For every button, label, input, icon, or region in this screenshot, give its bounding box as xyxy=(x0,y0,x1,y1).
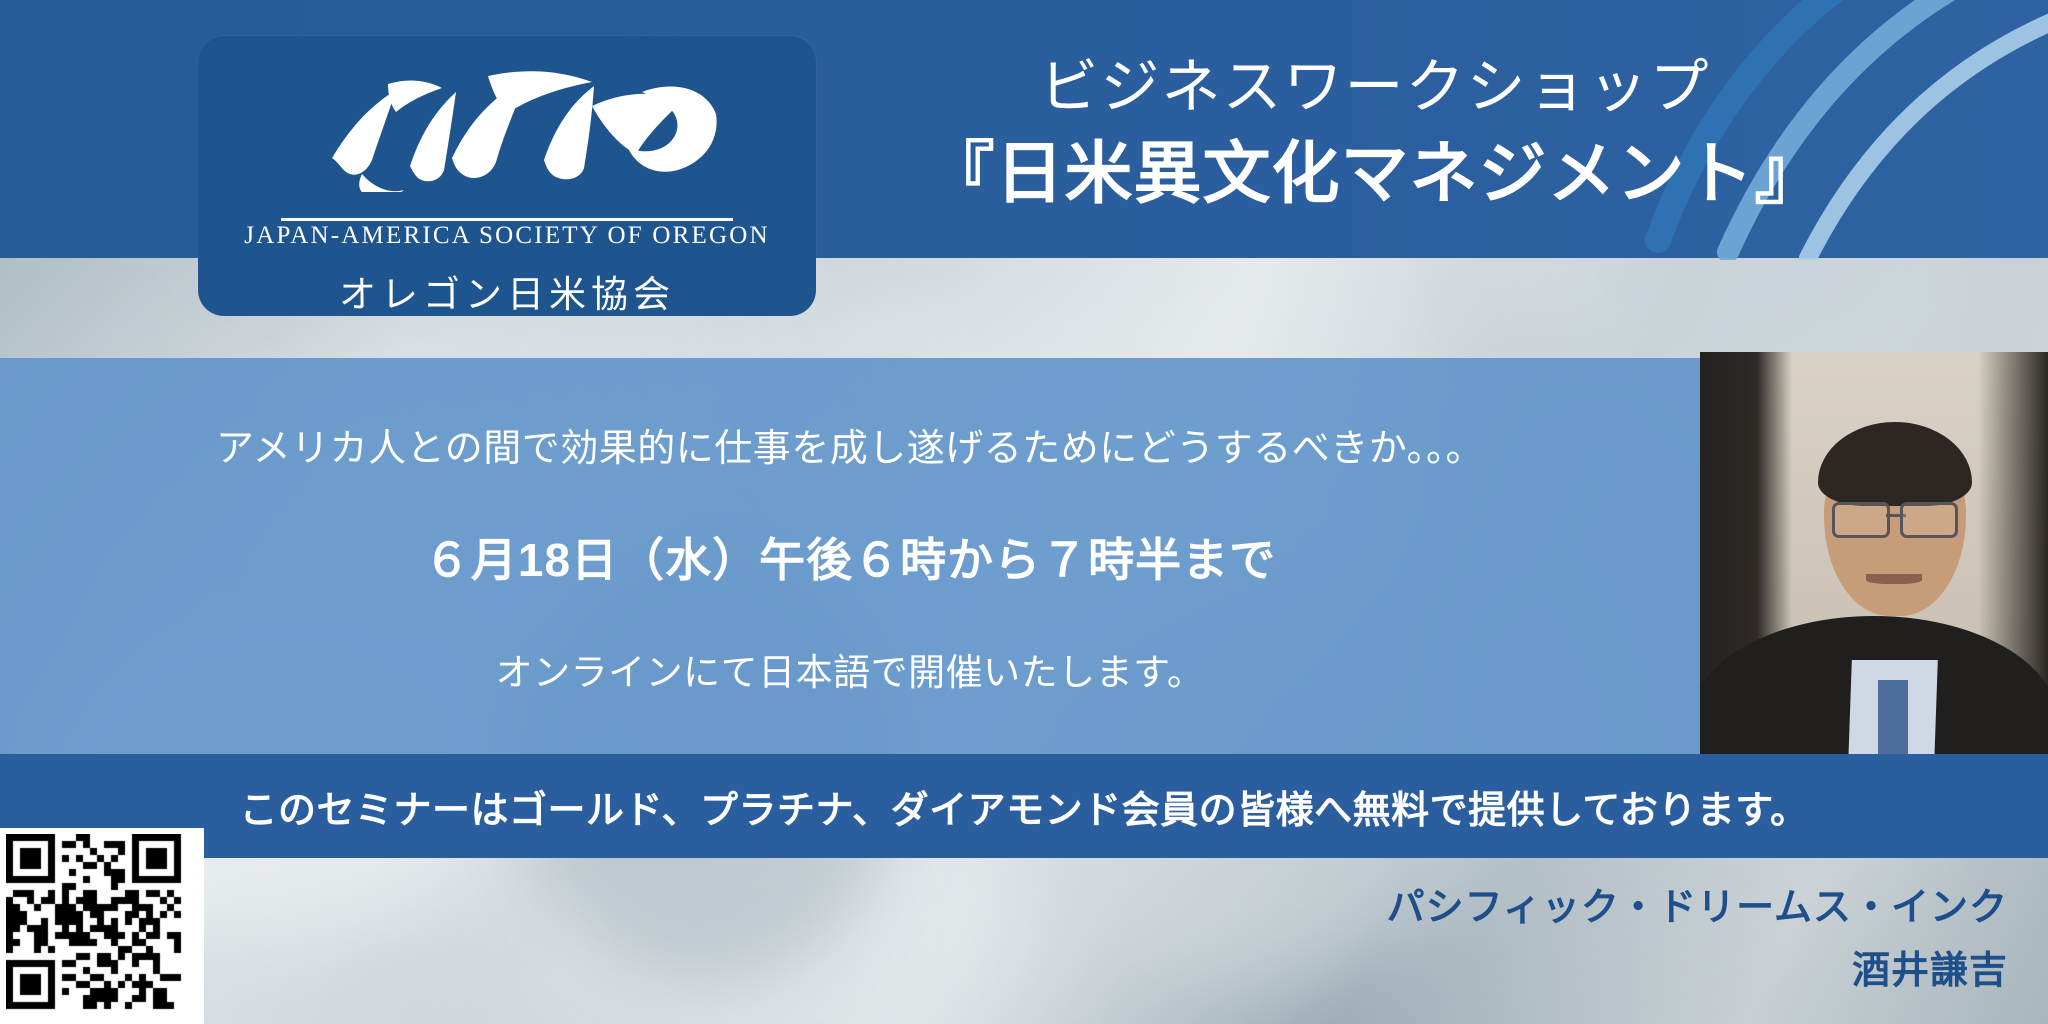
workshop-title: 『日米異文化マネジメント』 xyxy=(860,134,1890,216)
notice-text: このセミナーはゴールド、プラチナ、ダイアモンド会員の皆様へ無料で提供しております… xyxy=(0,754,2048,858)
header-title-block: ビジネスワークショップ 『日米異文化マネジメント』 xyxy=(860,52,1890,216)
qr-code[interactable] xyxy=(0,828,204,1024)
photo-glasses-icon xyxy=(1830,502,1960,532)
lead-text: アメリカ人との間で効果的に仕事を成し遂げるためにどうするべきか。。。 xyxy=(216,417,1484,472)
photo-mouth xyxy=(1866,574,1922,584)
footer-credit: パシフィック・ドリームス・インク 酒井謙吉 xyxy=(1387,880,2008,1000)
flyer-canvas: JAPAN-AMERICA SOCIETY OF OREGON オレゴン日米協会… xyxy=(0,0,2048,1024)
person-name: 酒井謙吉 xyxy=(1387,943,2008,1000)
photo-tie xyxy=(1878,680,1908,756)
speaker-photo xyxy=(1700,352,2048,756)
company-name: パシフィック・ドリームス・インク xyxy=(1387,880,2008,937)
logo-english-name: JAPAN-AMERICA SOCIETY OF OREGON xyxy=(198,222,816,250)
workshop-label: ビジネスワークショップ xyxy=(860,52,1890,124)
logo-japanese-name: オレゴン日米協会 xyxy=(198,264,816,318)
main-text-block: アメリカ人との間で効果的に仕事を成し遂げるためにどうするべきか。。。 ６月18日… xyxy=(0,358,1700,754)
jaso-logo-card: JAPAN-AMERICA SOCIETY OF OREGON オレゴン日米協会 xyxy=(198,36,816,316)
datetime-text: ６月18日（水）午後６時から７時半まで xyxy=(424,524,1276,590)
jaso-brush-logo-icon xyxy=(292,62,722,192)
format-text: オンラインにて日本語で開催いたします。 xyxy=(496,642,1205,696)
logo-divider xyxy=(281,218,733,221)
